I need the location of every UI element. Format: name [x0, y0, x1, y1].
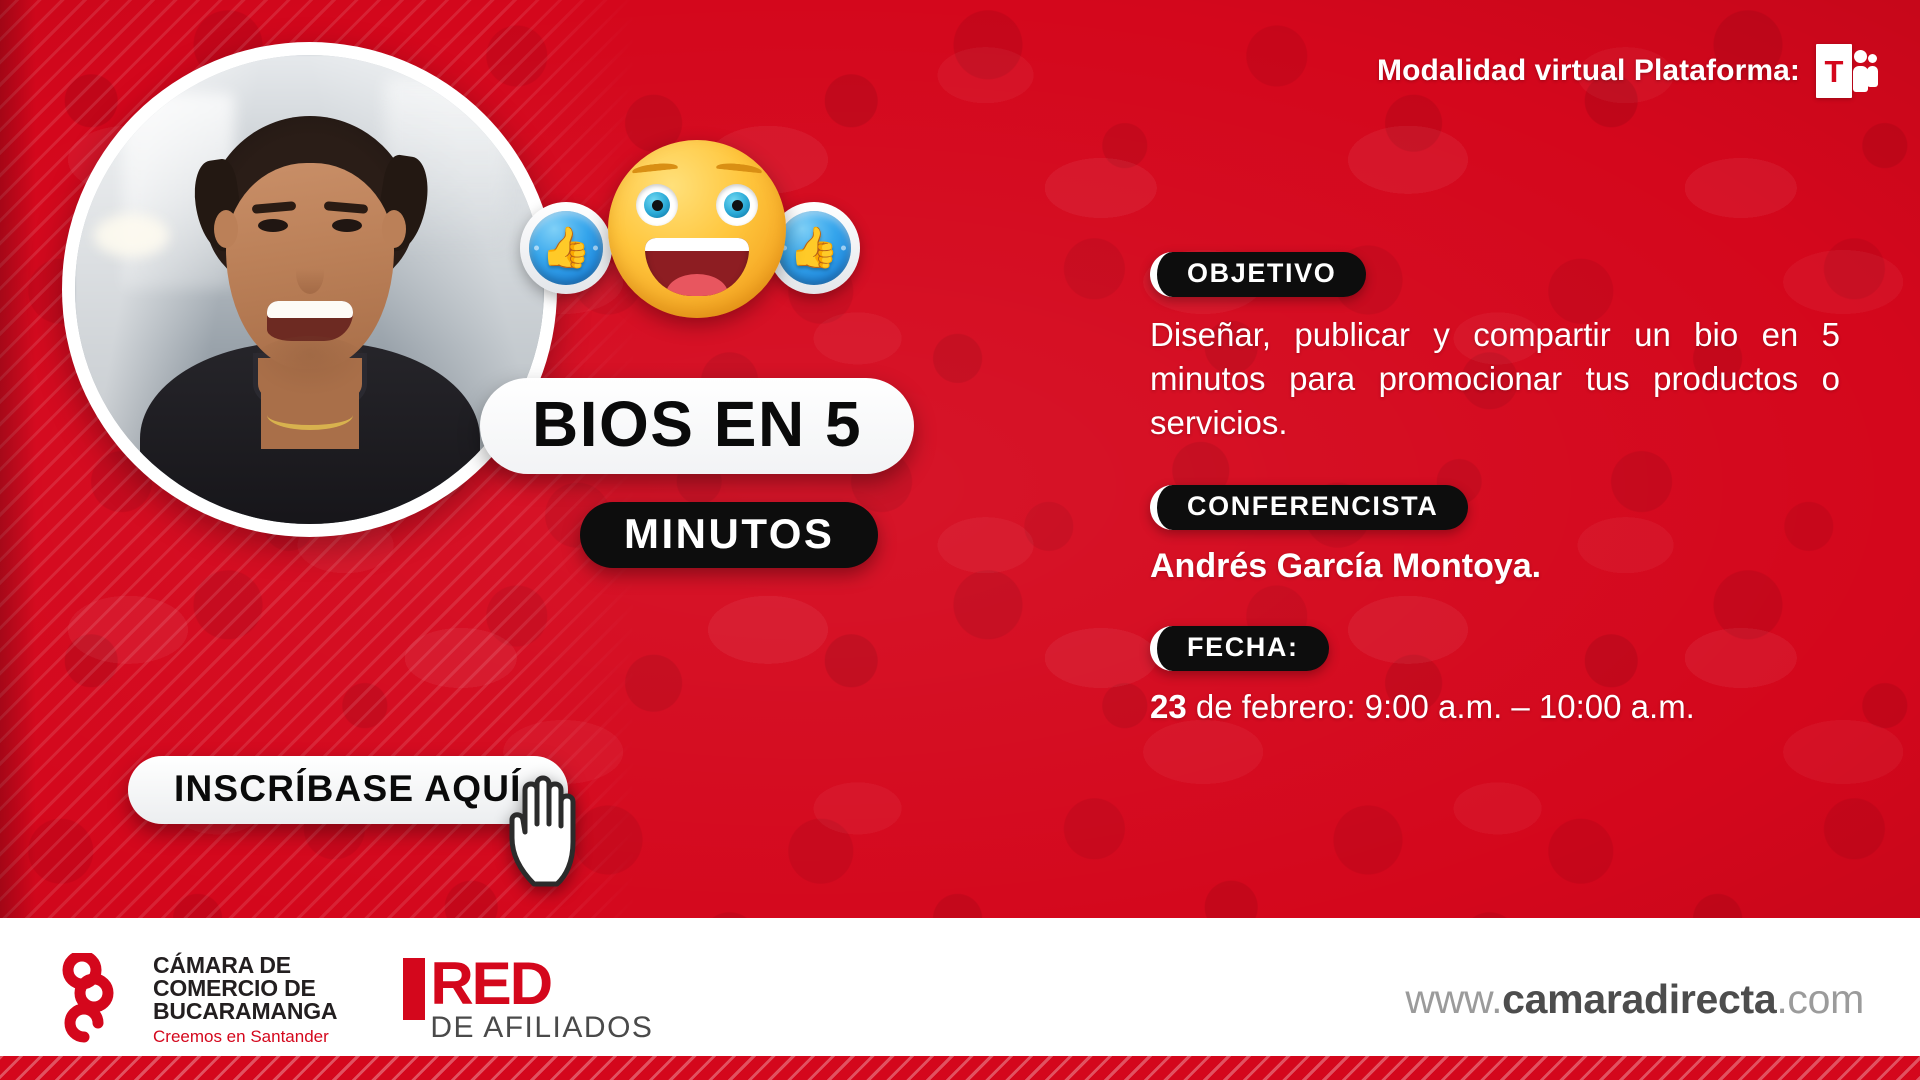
- photo-teeth: [267, 301, 353, 318]
- modality-label: Modalidad virtual Plataforma:: [1377, 54, 1800, 88]
- affiliates-title: RED: [430, 956, 653, 1011]
- photo-eye-right: [332, 219, 362, 232]
- chamber-logo: CÁMARA DE COMERCIO DE BUCARAMANGA Creemo…: [52, 953, 337, 1045]
- smiley-mouth: [645, 238, 749, 296]
- teams-person-large-head: [1854, 50, 1867, 63]
- website-prefix: www.: [1405, 976, 1502, 1022]
- thumbs-up-left-disc: 👍: [529, 211, 603, 285]
- objective-chip: OBJETIVO: [1150, 252, 1366, 297]
- chamber-line-1: CÁMARA DE: [153, 954, 337, 977]
- thumbs-up-right-glyph: 👍: [789, 228, 839, 268]
- poster-canvas: Modalidad virtual Plataforma: T: [0, 0, 1920, 1080]
- photo-necklace: [267, 400, 353, 430]
- chamber-line-2: COMERCIO DE: [153, 977, 337, 1000]
- modality-header: Modalidad virtual Plataforma: T: [1377, 42, 1876, 100]
- chamber-tagline: Creemos en Santander: [153, 1028, 337, 1045]
- register-button-label: INSCRÍBASE AQUÍ: [174, 768, 522, 809]
- smiley-tongue: [666, 274, 728, 296]
- photo-ear-left: [214, 210, 238, 248]
- smiley-eyebrow-left: [632, 162, 679, 178]
- thumbs-up-right-disc: 👍: [777, 211, 851, 285]
- affiliates-network-logo: RED DE AFILIADOS: [403, 956, 653, 1042]
- website-brand: camaradirecta: [1502, 976, 1776, 1022]
- affiliates-wordmark: RED DE AFILIADOS: [430, 956, 653, 1042]
- objective-block: OBJETIVO Diseñar, publicar y compartir u…: [1150, 252, 1840, 445]
- objective-text: Diseñar, publicar y compartir un bio en …: [1150, 313, 1840, 445]
- teams-person-large-body: [1853, 66, 1868, 92]
- affiliates-subtitle: DE AFILIADOS: [430, 1014, 653, 1042]
- hero-subtitle: MINUTOS: [624, 510, 834, 557]
- date-value: 23 de febrero: 9:00 a.m. – 10:00 a.m.: [1150, 687, 1840, 727]
- footer-bar: CÁMARA DE COMERCIO DE BUCARAMANGA Creemo…: [0, 918, 1920, 1080]
- hero-title: BIOS EN 5: [532, 388, 862, 460]
- photo-ear-right: [382, 210, 406, 248]
- speaker-chip: CONFERENCISTA: [1150, 485, 1468, 530]
- speaker-name: Andrés García Montoya.: [1150, 546, 1840, 587]
- smiley-eyebrow-right: [716, 162, 763, 178]
- chamber-mark-icon: [52, 953, 136, 1045]
- teams-letter: T: [1816, 44, 1852, 98]
- teams-person-small-body: [1867, 66, 1878, 87]
- date-chip: FECHA:: [1150, 626, 1329, 671]
- photo-lamp-glow: [94, 214, 169, 256]
- website-suffix: .com: [1776, 976, 1864, 1022]
- date-day: 23: [1150, 688, 1187, 725]
- photo-smile: [267, 301, 353, 341]
- speaker-photo-image: [75, 55, 544, 524]
- footer-accent-strip: [0, 1056, 1920, 1080]
- smiley-eye-left: [636, 184, 678, 226]
- speaker-photo: [62, 42, 557, 537]
- left-edge-shadow: [0, 0, 36, 918]
- date-rest: de febrero: 9:00 a.m. – 10:00 a.m.: [1187, 688, 1695, 725]
- photo-chin-shadow: [250, 336, 370, 396]
- objective-label: OBJETIVO: [1187, 260, 1336, 287]
- photo-nose: [296, 252, 324, 294]
- smiley-teeth: [645, 238, 749, 251]
- speaker-block: CONFERENCISTA Andrés García Montoya.: [1150, 485, 1840, 587]
- affiliates-accent-bar: [403, 958, 425, 1020]
- photo-eye-left: [258, 219, 288, 232]
- date-block: FECHA: 23 de febrero: 9:00 a.m. – 10:00 …: [1150, 626, 1840, 727]
- teams-person-small-head: [1868, 54, 1877, 63]
- chamber-wordmark: CÁMARA DE COMERCIO DE BUCARAMANGA Creemo…: [153, 954, 337, 1045]
- hero-subtitle-pill: MINUTOS: [580, 502, 878, 568]
- website-url[interactable]: www.camaradirecta.com: [1405, 976, 1864, 1023]
- smiley-eye-right: [716, 184, 758, 226]
- hand-pointer-icon: [500, 772, 610, 890]
- speaker-label: CONFERENCISTA: [1187, 493, 1438, 520]
- microsoft-teams-icon: T: [1816, 42, 1876, 100]
- hero-title-pill: BIOS EN 5: [480, 378, 914, 474]
- chamber-line-3: BUCARAMANGA: [153, 1000, 337, 1023]
- date-label: FECHA:: [1187, 634, 1299, 661]
- smiley-face-icon: [608, 140, 786, 318]
- thumbs-up-left-glyph: 👍: [541, 228, 591, 268]
- thumbs-up-left-icon: 👍: [520, 202, 612, 294]
- event-info-panel: OBJETIVO Diseñar, publicar y compartir u…: [1150, 252, 1840, 727]
